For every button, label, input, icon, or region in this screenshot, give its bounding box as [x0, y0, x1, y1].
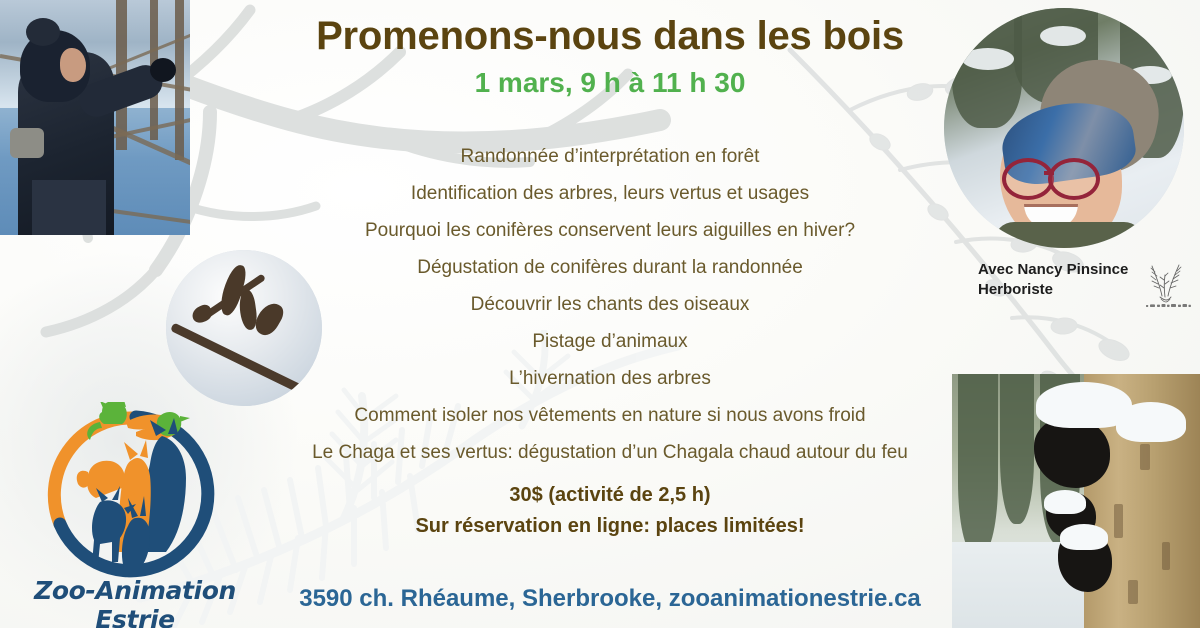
- presenter-role: Herboriste: [978, 280, 1158, 300]
- photo-trunk: [175, 0, 184, 160]
- list-item: Le Chaga et ses vertus: dégustation d’un…: [240, 434, 980, 471]
- photo-snow-patch: [1040, 26, 1086, 46]
- herb-sprig-icon: [1140, 256, 1196, 312]
- photo-glasses-right: [1048, 158, 1100, 200]
- logo-wordmark: Zoo-Animation Estrie: [22, 576, 248, 628]
- photo-snow-cap: [1116, 402, 1186, 442]
- photo-snow-cap: [1060, 524, 1108, 550]
- photo-conifer: [1000, 374, 1034, 524]
- list-item: Randonnée d’interprétation en forêt: [240, 138, 980, 175]
- list-item: Pourquoi les conifères conservent leurs …: [240, 212, 980, 249]
- photo-person-bag: [10, 128, 44, 158]
- photo-person-hat-pompom: [26, 18, 60, 46]
- photo-snow-cap: [1044, 490, 1086, 514]
- price-text: 30$ (activité de 2,5 h): [240, 480, 980, 511]
- poster-subtitle-date: 1 mars, 9 h à 11 h 30: [265, 66, 955, 100]
- photo-snow-patch: [962, 48, 1014, 70]
- photo-chaga-on-birch: [952, 374, 1200, 628]
- list-item: Découvrir les chants des oiseaux: [240, 286, 980, 323]
- photo-scarf: [994, 222, 1144, 248]
- photo-person-face: [60, 48, 86, 82]
- photo-person-in-winter-forest: [0, 0, 190, 235]
- photo-portrait-nancy: [944, 8, 1184, 248]
- price-and-booking: 30$ (activité de 2,5 h) Sur réservation …: [240, 480, 980, 542]
- list-item: L’hivernation des arbres: [240, 360, 980, 397]
- photo-person-mitten: [150, 58, 176, 82]
- photo-person-pants: [32, 180, 106, 235]
- list-item: Comment isoler nos vêtements en nature s…: [240, 397, 980, 434]
- photo-glasses-bridge: [1044, 171, 1054, 175]
- photo-bark-mark: [1114, 504, 1123, 538]
- poster-title: Promenons-nous dans les bois: [265, 14, 955, 58]
- photo-bark-mark: [1128, 580, 1138, 604]
- list-item: Pistage d’animaux: [240, 323, 980, 360]
- photo-bark-mark: [1140, 444, 1150, 470]
- list-item: Dégustation de conifères durant la rando…: [240, 249, 980, 286]
- poster-canvas: Promenons-nous dans les bois 1 mars, 9 h…: [0, 0, 1200, 628]
- address-and-website[interactable]: 3590 ch. Rhéaume, Sherbrooke, zooanimati…: [240, 585, 980, 614]
- zoo-animation-estrie-logo[interactable]: Zoo-Animation Estrie: [22, 398, 248, 613]
- photo-glasses-left: [1002, 158, 1054, 200]
- activity-list: Randonnée d’interprétation en forêt Iden…: [240, 138, 980, 471]
- presenter-name: Avec Nancy Pinsince: [978, 260, 1158, 280]
- animal-circle-icon: [40, 402, 226, 588]
- photo-bark-mark: [1162, 542, 1170, 570]
- list-item: Identification des arbres, leurs vertus …: [240, 175, 980, 212]
- presenter-credit: Avec Nancy Pinsince Herboriste: [978, 260, 1158, 301]
- booking-text: Sur réservation en ligne: places limitée…: [240, 511, 980, 542]
